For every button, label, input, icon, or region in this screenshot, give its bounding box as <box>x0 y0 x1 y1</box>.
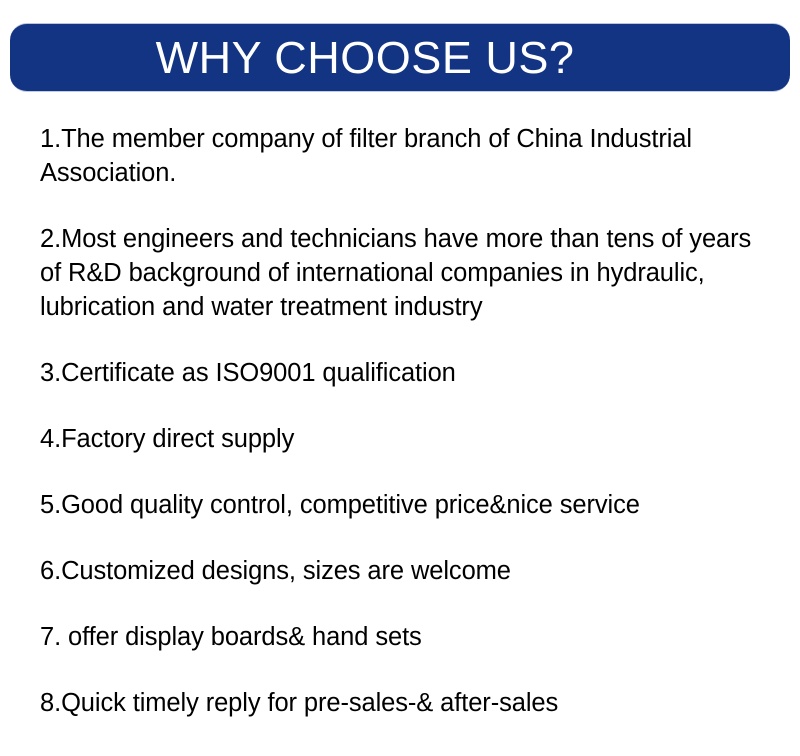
list-item: 2.Most engineers and technicians have mo… <box>40 222 752 324</box>
why-choose-us-page: WHY CHOOSE US? 1.The member company of f… <box>0 0 800 756</box>
benefits-list: 1.The member company of filter branch of… <box>40 122 770 720</box>
list-item: 8.Quick timely reply for pre-sales-& aft… <box>40 686 740 720</box>
list-item: 7. offer display boards& hand sets <box>40 620 740 654</box>
list-item: 4.Factory direct supply <box>40 422 740 456</box>
list-item: 6.Customized designs, sizes are welcome <box>40 554 740 588</box>
header-banner: WHY CHOOSE US? <box>10 23 790 92</box>
list-item: 1.The member company of filter branch of… <box>40 122 700 190</box>
list-item: 3.Certificate as ISO9001 qualification <box>40 356 740 390</box>
page-title: WHY CHOOSE US? <box>156 35 575 80</box>
list-item: 5.Good quality control, competitive pric… <box>40 488 760 522</box>
